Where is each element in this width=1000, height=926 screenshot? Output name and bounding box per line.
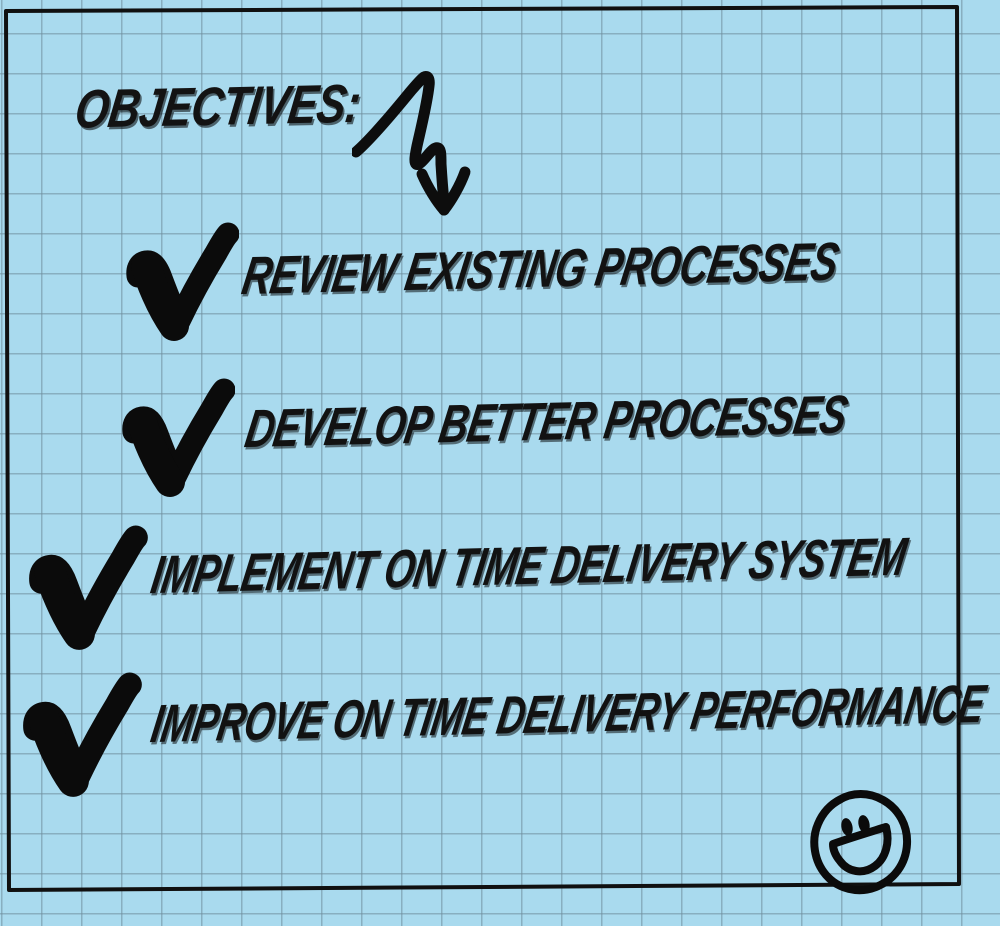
objectives-whiteboard: OBJECTIVES: REVIEW EXISTING PROCE bbox=[0, 0, 1000, 926]
checklist-item-label: REVIEW EXISTING PROCESSES bbox=[238, 236, 841, 304]
zigzag-down-arrow-icon bbox=[352, 52, 482, 220]
checklist-item-label: DEVELOP BETTER PROCESSES bbox=[241, 389, 850, 457]
checkmark-icon bbox=[26, 525, 148, 653]
checklist-item-label: IMPLEMENT ON TIME DELIVERY SYSTEM bbox=[147, 531, 909, 603]
checkmark-icon bbox=[20, 672, 142, 800]
checkmark-icon bbox=[120, 378, 235, 500]
checkmark-icon bbox=[124, 222, 239, 344]
page-title: OBJECTIVES: bbox=[72, 76, 363, 136]
smiley-face-icon bbox=[806, 786, 918, 898]
checklist-item-label: IMPROVE ON TIME DELIVERY PERFORMANCE bbox=[147, 678, 988, 752]
